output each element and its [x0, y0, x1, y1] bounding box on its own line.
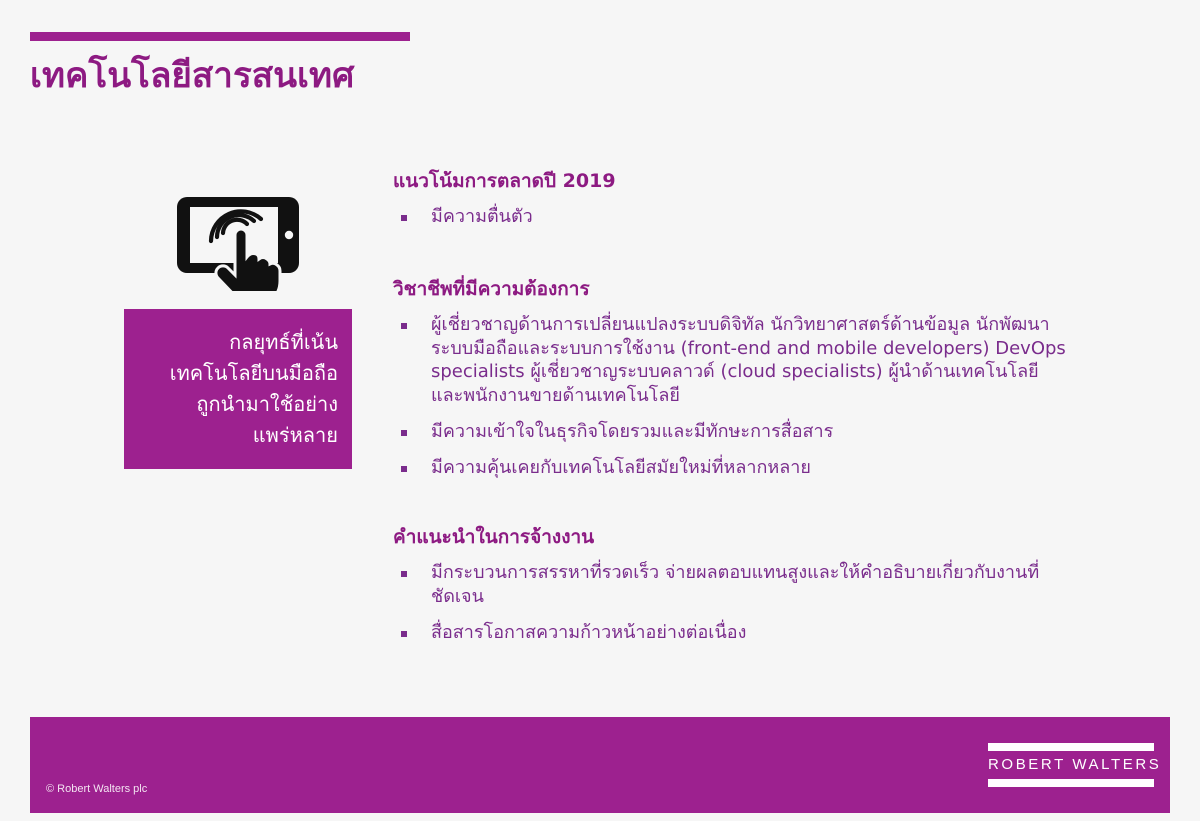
list-item-text: มีความตื่นตัว: [431, 206, 533, 227]
callout-line-2: เทคโนโลยีบนมือถือ: [170, 358, 338, 389]
callout-line-4: แพร่หลาย: [253, 420, 338, 451]
section-spacer: [393, 240, 1073, 276]
callout-line-1: กลยุทธ์ที่เน้น: [229, 327, 338, 358]
logo-rule-top: [988, 743, 1154, 751]
list-item-text: มีความเข้าใจในธุรกิจโดยรวมและมีทักษะการส…: [431, 421, 833, 442]
list-item-text: มีความคุ้นเคยกับเทคโนโลยีสมัยใหม่ที่หลาก…: [431, 457, 811, 478]
page-title: เทคโนโลยีสารสนเทศ: [30, 55, 354, 99]
list-item: ผู้เชี่ยวชาญด้านการเปลี่ยนแปลงระบบดิจิทั…: [393, 313, 1073, 408]
section-in-demand-professions: วิชาชีพที่มีความต้องการ ผู้เชี่ยวชาญด้าน…: [393, 276, 1073, 479]
logo-wordmark: ROBERT WALTERS: [988, 751, 1154, 779]
footer-bar: © Robert Walters plc ROBERT WALTERS: [30, 717, 1170, 813]
left-column: กลยุทธ์ที่เน้น เทคโนโลยีบนมือถือ ถูกนำมา…: [124, 186, 352, 469]
bullet-list: มีกระบวนการสรรหาที่รวดเร็ว จ่ายผลตอบแทนส…: [393, 561, 1073, 644]
section-hiring-advice: คำแนะนำในการจ้างงาน มีกระบวนการสรรหาที่ร…: [393, 524, 1073, 644]
square-bullet-icon: [401, 323, 407, 329]
robert-walters-logo: ROBERT WALTERS: [988, 743, 1154, 787]
content-column: แนวโน้มการตลาดปี 2019 มีความตื่นตัว วิชา…: [393, 168, 1073, 656]
callout-line-3: ถูกนำมาใช้อย่าง: [196, 389, 338, 420]
list-item: มีกระบวนการสรรหาที่รวดเร็ว จ่ายผลตอบแทนส…: [393, 561, 1073, 609]
bullet-list: มีความตื่นตัว: [393, 205, 1073, 229]
slide-canvas: เทคโนโลยีสารสนเทศ กลยุทธ์ที่เน้น เทคโนโล…: [0, 0, 1200, 821]
section-heading: วิชาชีพที่มีความต้องการ: [393, 276, 1073, 303]
list-item: มีความเข้าใจในธุรกิจโดยรวมและมีทักษะการส…: [393, 420, 1073, 444]
list-item: มีความคุ้นเคยกับเทคโนโลยีสมัยใหม่ที่หลาก…: [393, 456, 1073, 480]
square-bullet-icon: [401, 430, 407, 436]
section-spacer: [393, 491, 1073, 524]
copyright-text: © Robert Walters plc: [46, 783, 147, 795]
section-heading: คำแนะนำในการจ้างงาน: [393, 524, 1073, 551]
logo-rule-bottom: [988, 779, 1154, 787]
touchscreen-tablet-hand-icon: [124, 186, 352, 296]
title-accent-bar: [30, 32, 410, 41]
square-bullet-icon: [401, 631, 407, 637]
list-item-text: สื่อสารโอกาสความก้าวหน้าอย่างต่อเนื่อง: [431, 622, 746, 643]
list-item-text: มีกระบวนการสรรหาที่รวดเร็ว จ่ายผลตอบแทนส…: [431, 562, 1039, 607]
square-bullet-icon: [401, 571, 407, 577]
section-heading: แนวโน้มการตลาดปี 2019: [393, 168, 1073, 195]
square-bullet-icon: [401, 215, 407, 221]
list-item: มีความตื่นตัว: [393, 205, 1073, 229]
bullet-list: ผู้เชี่ยวชาญด้านการเปลี่ยนแปลงระบบดิจิทั…: [393, 313, 1073, 480]
list-item-text: ผู้เชี่ยวชาญด้านการเปลี่ยนแปลงระบบดิจิทั…: [431, 314, 1066, 406]
square-bullet-icon: [401, 466, 407, 472]
mobile-strategy-callout: กลยุทธ์ที่เน้น เทคโนโลยีบนมือถือ ถูกนำมา…: [124, 309, 352, 469]
section-market-trends: แนวโน้มการตลาดปี 2019 มีความตื่นตัว: [393, 168, 1073, 228]
list-item: สื่อสารโอกาสความก้าวหน้าอย่างต่อเนื่อง: [393, 621, 1073, 645]
